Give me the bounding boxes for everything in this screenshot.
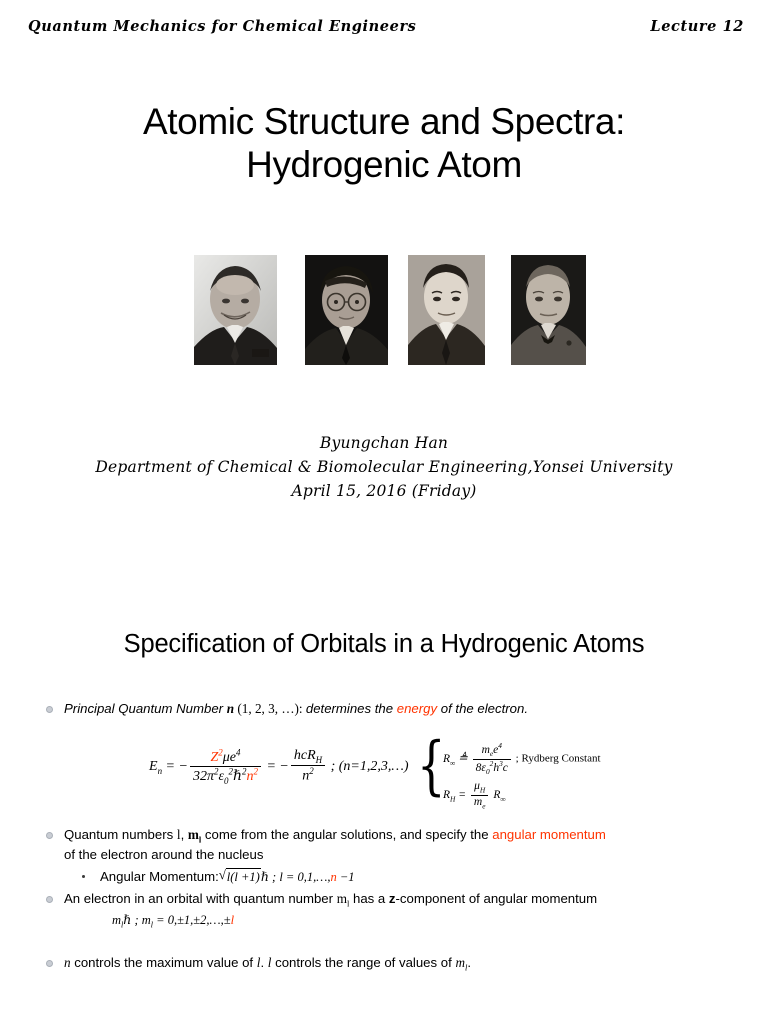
- rinf-denominator: 8ε02h3c: [473, 760, 511, 777]
- slide-title: Atomic Structure and Spectra: Hydrogenic…: [0, 101, 768, 187]
- eq-rhs-denominator: n2: [291, 766, 325, 785]
- nc-part-4: .: [467, 955, 471, 970]
- rydberg-infinity-definition: R∞ ≜ mee48ε02h3c ; Rydberg Constant: [443, 742, 601, 776]
- rinf-lhs: R∞: [443, 753, 455, 765]
- eo-symbol-ml: ml: [337, 891, 350, 906]
- angular-momentum-hbar: ℏ: [261, 870, 269, 884]
- bullet-principal-quantum-number: Principal Quantum Number n (1, 2, 3, …):…: [42, 700, 734, 718]
- rinf-fraction: mee48ε02h3c: [473, 742, 511, 776]
- portrait-2: [305, 255, 388, 365]
- eq-main-fraction: Z2μe432π2ε02ℏ2n2: [190, 747, 261, 786]
- nc-symbol-ml: ml: [455, 955, 467, 970]
- bullet-quantum-numbers: Quantum numbers l, ml come from the angu…: [42, 826, 734, 864]
- angular-momentum-condition-tail: −1: [337, 870, 355, 884]
- slide-title-line-1: Atomic Structure and Spectra:: [0, 101, 768, 144]
- author-affiliation: Department of Chemical & Biomolecular En…: [0, 455, 768, 479]
- eq-den-hbar: ℏ2: [233, 769, 247, 784]
- eo-formula-ml: ml: [112, 913, 123, 927]
- bullet-marker-icon: [46, 896, 53, 903]
- principal-mid: determines the: [306, 701, 397, 716]
- rh-fraction: μHme: [471, 780, 489, 811]
- eo-formula-cond: ; ml: [131, 913, 153, 927]
- eo-z-axis: z: [389, 891, 396, 906]
- portrait-3: [408, 255, 485, 365]
- principal-lead: Principal Quantum Number: [64, 701, 227, 716]
- qn-comma: ,: [181, 827, 188, 842]
- eq-main-numerator: Z2μe4: [190, 747, 261, 767]
- angular-momentum-condition-lead: ; l = 0,1,…,: [269, 870, 331, 884]
- principal-tail: of the electron.: [437, 701, 528, 716]
- rydberg-hydrogen-definition: RH = μHme R∞: [443, 780, 506, 811]
- author-block: Byungchan Han Department of Chemical & B…: [0, 431, 768, 503]
- rydberg-constant-label: ; Rydberg Constant: [513, 753, 601, 765]
- left-curly-brace-icon: {: [417, 734, 446, 798]
- eq-den-lead: 32π2: [193, 769, 219, 784]
- eq-rydberg-fraction: hcRHn2: [291, 748, 325, 785]
- eq-equals-minus: = −: [162, 759, 188, 774]
- eq-range: ; (n=1,2,3,…): [327, 759, 408, 774]
- eq-rhs-numerator: hcRH: [291, 748, 325, 766]
- bullet-n-controls: n controls the maximum value of l. l con…: [42, 954, 734, 974]
- nc-symbol-n: n: [64, 955, 71, 970]
- angular-momentum-radicand: l(l +1): [226, 868, 261, 887]
- eq-num-Z: Z2: [210, 750, 222, 765]
- rh-tail: R∞: [490, 789, 505, 801]
- author-name: Byungchan Han: [0, 431, 768, 455]
- qn-symbol-ml: ml: [188, 827, 201, 842]
- sub-bullet-marker-icon: [82, 875, 85, 878]
- header-lecture-label: Lecture 12: [650, 18, 744, 35]
- rinf-numerator: mee4: [473, 742, 511, 760]
- section-heading: Specification of Orbitals in a Hydrogeni…: [0, 630, 768, 659]
- header-course-title: Quantum Mechanics for Chemical Engineers: [28, 18, 416, 35]
- eo-formula-l: l: [231, 913, 234, 927]
- bullet-marker-icon: [46, 960, 53, 967]
- eq-mid-equals: = −: [263, 759, 289, 774]
- eo-lead: An electron in an orbital with quantum n…: [64, 891, 337, 906]
- nc-part-2: .: [260, 955, 267, 970]
- rinf-def-symbol: ≜: [455, 753, 470, 765]
- portrait-photo-strip: [0, 255, 768, 373]
- eo-mid: has a: [349, 891, 389, 906]
- energy-level-equation: En = −Z2μe432π2ε02ℏ2n2 = −hcRHn2 ; (n=1,…: [149, 747, 408, 786]
- energy-equation-block: En = −Z2μe432π2ε02ℏ2n2 = −hcRHn2 ; (n=1,…: [42, 738, 734, 810]
- principal-values: (1, 2, 3, …):: [234, 701, 306, 716]
- qn-line-2: of the electron around the nucleus: [64, 846, 734, 864]
- subbullet-angular-momentum: Angular Momentum:l(l +1)ℏ ; l = 0,1,…,n …: [42, 867, 734, 887]
- qn-highlight-angular-momentum: angular momentum: [492, 827, 606, 842]
- principal-symbol-n: n: [227, 701, 234, 716]
- rh-numerator: μH: [471, 780, 489, 796]
- nc-part-1: controls the maximum value of: [71, 955, 257, 970]
- rh-denominator: me: [471, 796, 489, 811]
- bullet-marker-icon: [46, 832, 53, 839]
- angular-momentum-label: Angular Momentum:: [100, 869, 219, 884]
- eq-main-denominator: 32π2ε02ℏ2n2: [190, 767, 261, 787]
- presentation-date: April 15, 2016 (Friday): [0, 479, 768, 503]
- sqrt-icon: l(l +1): [219, 867, 261, 887]
- portrait-4: [511, 255, 586, 365]
- rydberg-definitions-group: { R∞ ≜ mee48ε02h3c ; Rydberg Constant RH…: [417, 738, 727, 810]
- qn-lead: Quantum numbers: [64, 827, 177, 842]
- eq-den-eps: ε02: [218, 769, 233, 784]
- bullet-marker-icon: [46, 706, 53, 713]
- eq-den-n: n2: [246, 769, 257, 784]
- portrait-1: [194, 255, 277, 365]
- eq-lhs-E: En: [149, 759, 162, 774]
- qn-mid: come from the angular solutions, and spe…: [201, 827, 492, 842]
- eo-formula: mlℏ ; ml = 0,±1,±2,…,±l: [64, 912, 734, 931]
- slide-title-line-2: Hydrogenic Atom: [0, 144, 768, 187]
- eo-tail: -component of angular momentum: [396, 891, 598, 906]
- nc-part-3: controls the range of values of: [271, 955, 455, 970]
- eo-formula-values: = 0,±1,±2,…,±: [153, 913, 231, 927]
- eq-num-rest: μe4: [223, 750, 241, 765]
- bullet-electron-orbital: An electron in an orbital with quantum n…: [42, 890, 734, 931]
- rh-equals: =: [455, 789, 469, 801]
- principal-highlight-energy: energy: [397, 701, 437, 716]
- slide-header: Quantum Mechanics for Chemical Engineers…: [24, 18, 744, 44]
- rh-lhs: RH: [443, 789, 455, 801]
